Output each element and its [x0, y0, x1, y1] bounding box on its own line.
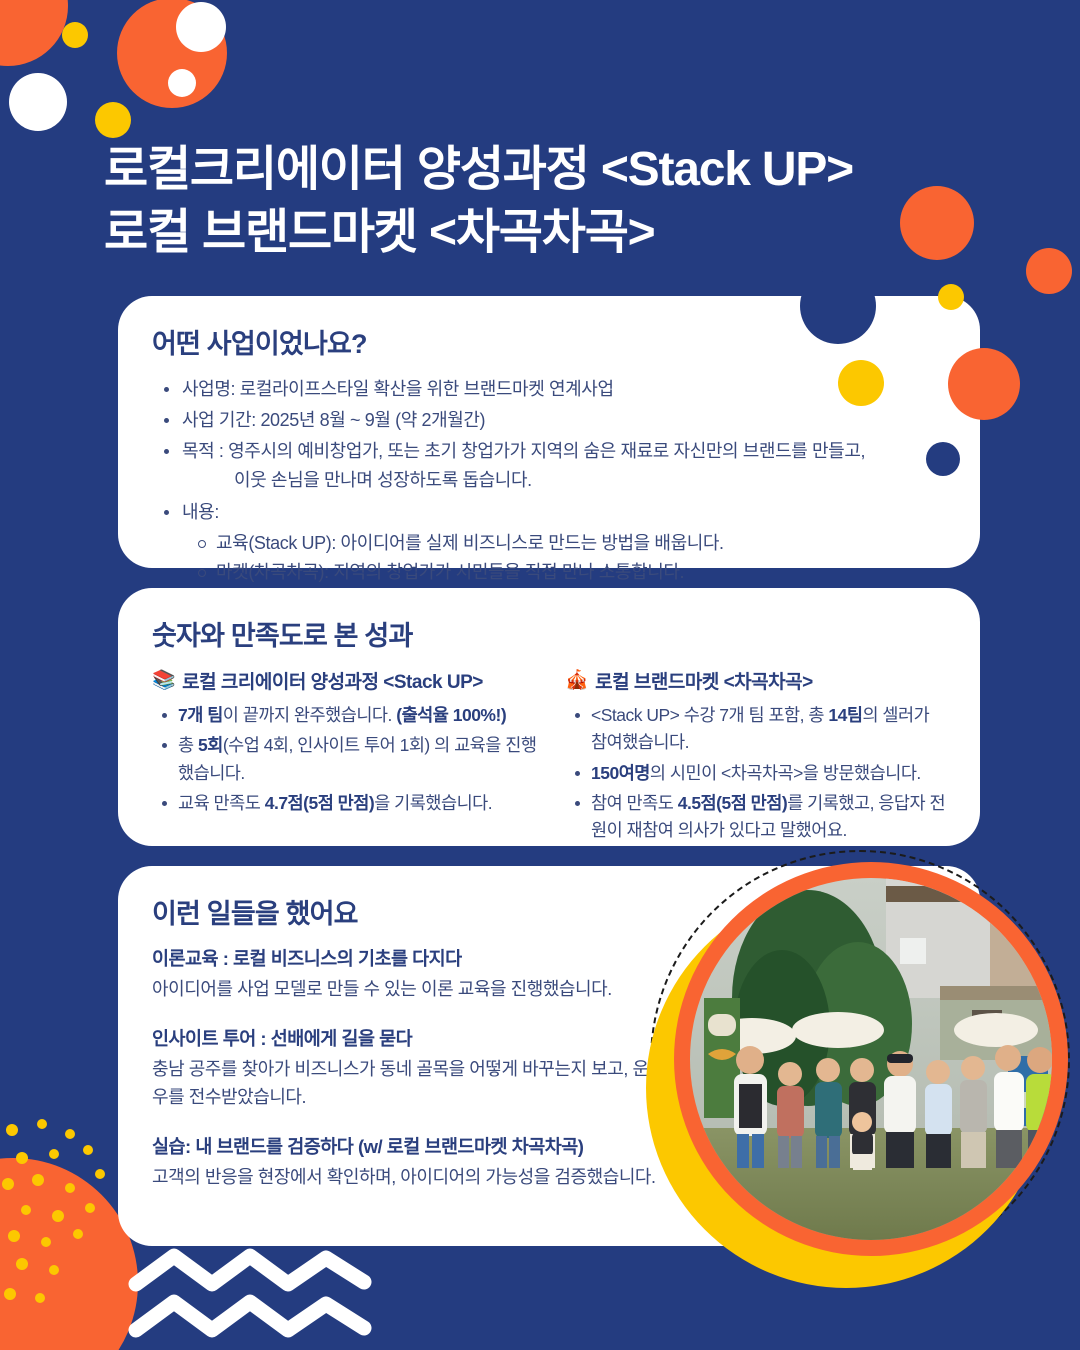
about-purpose-line1: 목적 : 영주시의 예비창업가, 또는 초기 창업가가 지역의 숨은 재료로 자…	[182, 441, 865, 461]
stats-stackup-title: 로컬 크리에이터 양성과정 <Stack UP>	[182, 667, 483, 694]
page-title: 로컬크리에이터 양성과정 <Stack UP> 로컬 브랜드마켓 <차곡차곡>	[104, 138, 1004, 265]
decor-circle-yellow-card	[838, 360, 884, 406]
doing-block: 인사이트 투어 : 선배에게 길을 묻다충남 공주를 찾아가 비즈니스가 동네 …	[152, 1025, 712, 1111]
stat-item: 총 5회(수업 4회, 인사이트 투어 1회) 의 교육을 진행했습니다.	[152, 732, 549, 787]
stat-item: <Stack UP> 수강 7개 팀 포함, 총 14팀의 셀러가 참여했습니다…	[565, 702, 946, 757]
doing-block-body: 충남 공주를 찾아가 비즈니스가 동네 골목을 어떻게 바꾸는지 보고, 운영 …	[152, 1055, 712, 1111]
books-icon: 📚	[152, 671, 175, 690]
stats-heading: 숫자와 만족도로 본 성과	[152, 614, 946, 653]
decor-circle-yellow-tl-small	[62, 22, 88, 48]
about-item-name: 사업명: 로컬라이프스타일 확산을 위한 브랜드마켓 연계사업	[152, 375, 946, 404]
stats-columns: 📚 로컬 크리에이터 양성과정 <Stack UP> 7개 팀이 끝까지 완주했…	[152, 667, 946, 847]
decor-circle-orange-right-edge	[1026, 248, 1072, 294]
doing-block-title: 실습: 내 브랜드를 검증하다 (w/ 로컬 브랜드마켓 차곡차곡)	[152, 1133, 712, 1159]
doing-block: 이론교육 : 로컬 비즈니스의 기초를 다지다아이디어를 사업 모델로 만들 수…	[152, 945, 712, 1003]
circus-tent-icon: 🎪	[565, 671, 588, 690]
stats-market-list: <Stack UP> 수강 7개 팀 포함, 총 14팀의 셀러가 참여했습니다…	[565, 702, 946, 844]
stats-stackup-title-row: 📚 로컬 크리에이터 양성과정 <Stack UP>	[152, 667, 549, 694]
stats-col-market: 🎪 로컬 브랜드마켓 <차곡차곡> <Stack UP> 수강 7개 팀 포함,…	[549, 667, 946, 847]
about-item-content: 내용: 교육(Stack UP): 아이디어를 실제 비즈니스로 만드는 방법을…	[152, 498, 946, 588]
stat-item: 150여명의 시민이 <차곡차곡>을 방문했습니다.	[565, 760, 946, 787]
stats-col-stackup: 📚 로컬 크리에이터 양성과정 <Stack UP> 7개 팀이 끝까지 완주했…	[152, 667, 549, 847]
group-photo	[690, 878, 1052, 1240]
doing-block-title: 이론교육 : 로컬 비즈니스의 기초를 다지다	[152, 945, 712, 971]
stats-market-title: 로컬 브랜드마켓 <차곡차곡>	[595, 667, 813, 694]
decor-circle-yellow-card-notch	[938, 284, 964, 310]
stat-item: 교육 만족도 4.7점(5점 만점)을 기록했습니다.	[152, 790, 549, 817]
about-item-period: 사업 기간: 2025년 8월 ~ 9월 (약 2개월간)	[152, 406, 946, 435]
poster-root: 로컬크리에이터 양성과정 <Stack UP> 로컬 브랜드마켓 <차곡차곡> …	[0, 0, 1080, 1350]
about-sub-market: 마켓(차곡차곡): 지역의 창업가가 시민들을 직접 만나 소통합니다.	[182, 558, 946, 588]
stats-market-title-row: 🎪 로컬 브랜드마켓 <차곡차곡>	[565, 667, 946, 694]
decor-circle-navy-card	[926, 442, 960, 476]
decor-notch-navy	[800, 268, 876, 344]
doing-block-body: 고객의 반응을 현장에서 확인하며, 아이디어의 가능성을 검증했습니다.	[152, 1163, 712, 1191]
about-list: 사업명: 로컬라이프스타일 확산을 위한 브랜드마켓 연계사업 사업 기간: 2…	[152, 375, 946, 588]
about-item-purpose: 목적 : 영주시의 예비창업가, 또는 초기 창업가가 지역의 숨은 재료로 자…	[152, 437, 946, 495]
decor-circle-white-left	[9, 73, 67, 131]
doing-block: 실습: 내 브랜드를 검증하다 (w/ 로컬 브랜드마켓 차곡차곡)고객의 반응…	[152, 1133, 712, 1191]
decor-circle-yellow-tl	[95, 102, 131, 138]
decor-yellow-dots	[0, 1112, 180, 1332]
decor-circle-white-mid	[168, 69, 196, 97]
stat-item: 참여 만족도 4.5점(5점 만점)를 기록했고, 응답자 전원이 재참여 의사…	[565, 790, 946, 845]
about-sublist: 교육(Stack UP): 아이디어를 실제 비즈니스로 만드는 방법을 배웁니…	[182, 529, 946, 588]
doing-block-title: 인사이트 투어 : 선배에게 길을 묻다	[152, 1025, 712, 1051]
about-purpose-line2: 이웃 손님을 만나며 성장하도록 돕습니다.	[182, 466, 946, 495]
about-content-label: 내용:	[182, 502, 219, 522]
about-sub-education: 교육(Stack UP): 아이디어를 실제 비즈니스로 만드는 방법을 배웁니…	[182, 529, 946, 559]
photo-module	[660, 862, 1068, 1270]
decor-circle-orange-tl	[0, 0, 68, 66]
decor-circle-orange-card	[948, 348, 1020, 420]
doing-block-body: 아이디어를 사업 모델로 만들 수 있는 이론 교육을 진행했습니다.	[152, 975, 712, 1003]
stat-item: 7개 팀이 끝까지 완주했습니다. (출석율 100%!)	[152, 702, 549, 729]
decor-circle-white-top	[176, 2, 226, 52]
card-stats: 숫자와 만족도로 본 성과 📚 로컬 크리에이터 양성과정 <Stack UP>…	[118, 588, 980, 846]
stats-stackup-list: 7개 팀이 끝까지 완주했습니다. (출석율 100%!)총 5회(수업 4회,…	[152, 702, 549, 817]
